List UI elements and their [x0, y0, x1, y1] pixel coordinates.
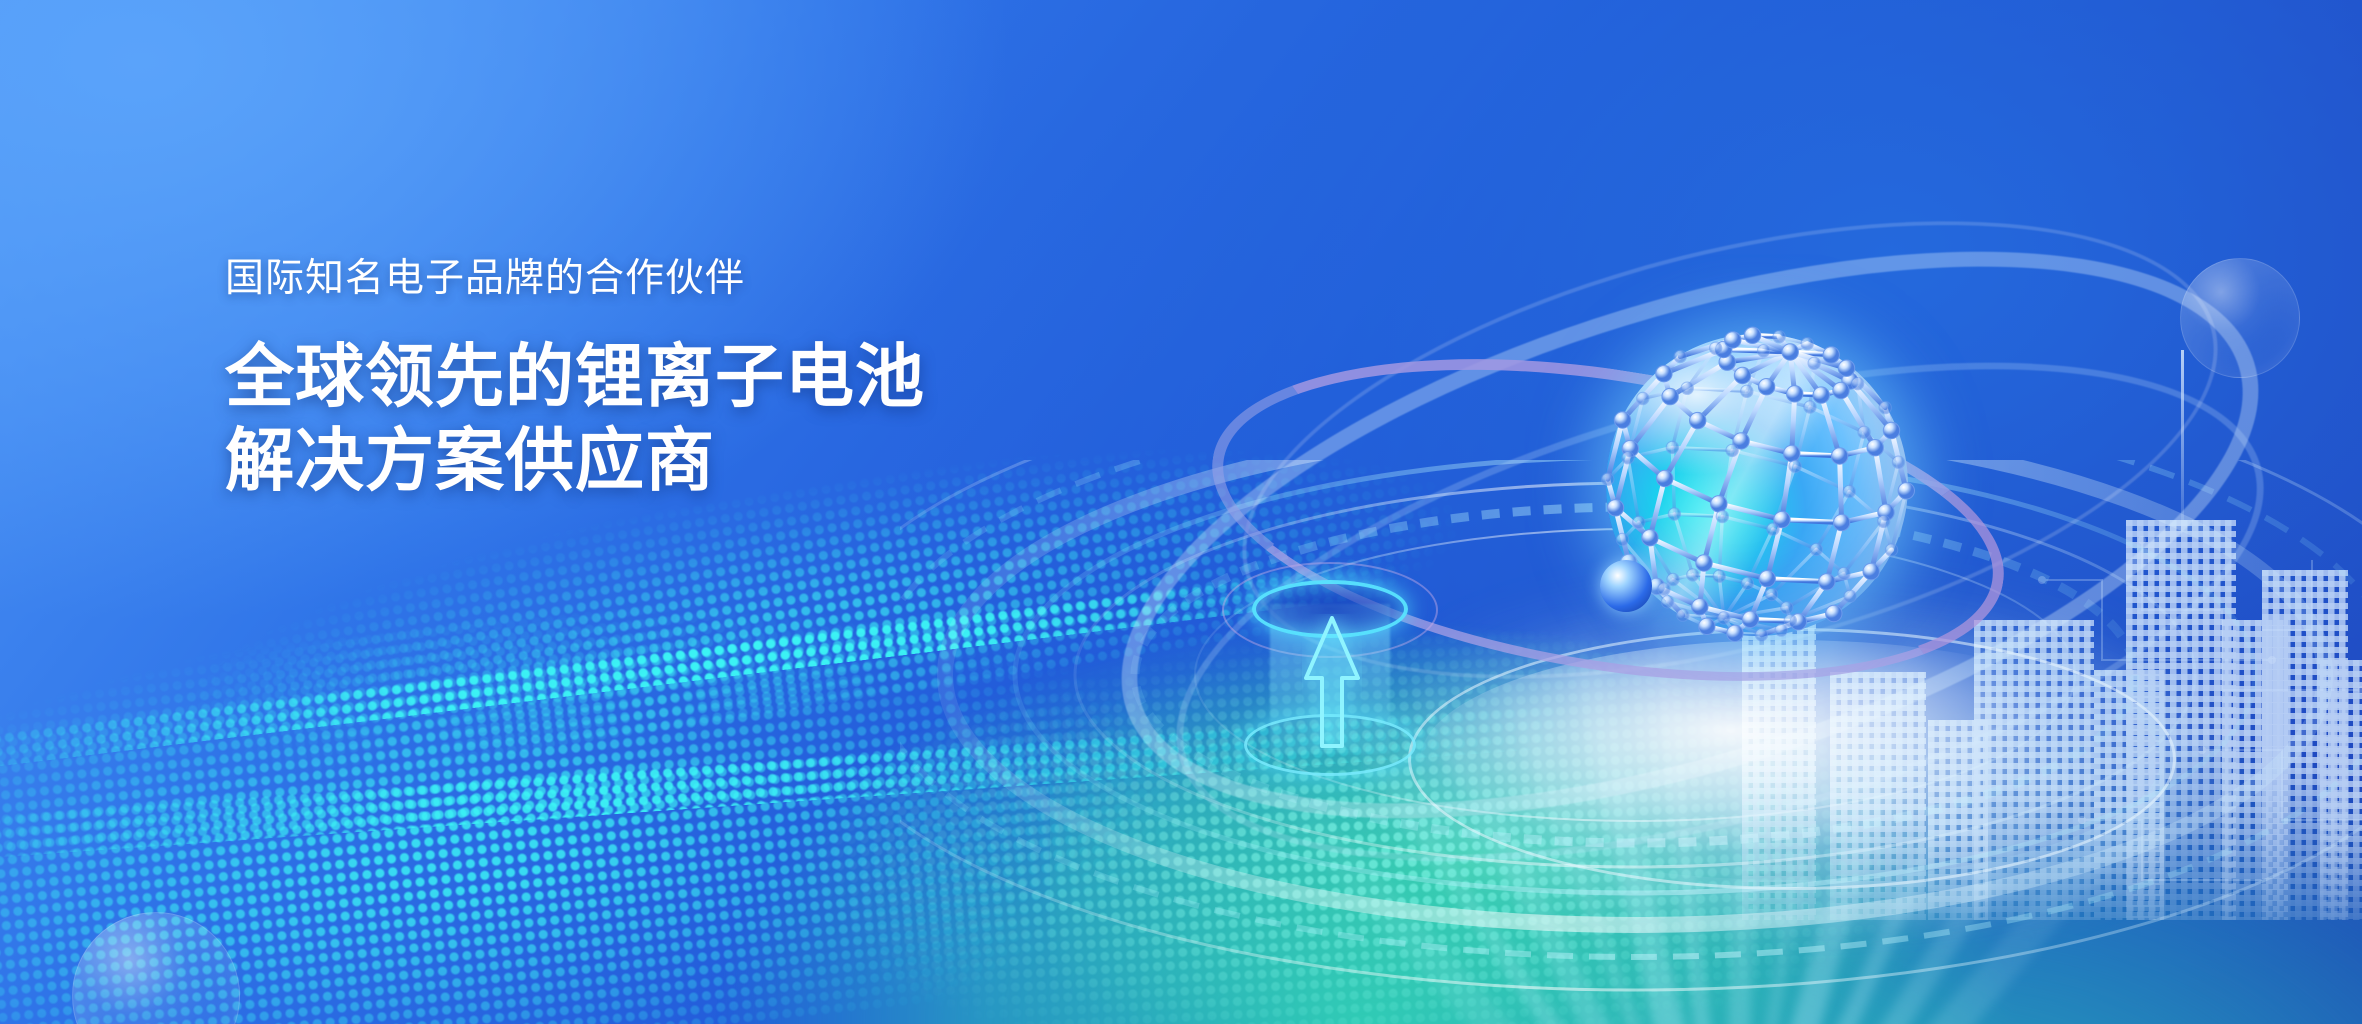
portal-halo [1222, 562, 1438, 658]
banner-copy: 国际知名电子品牌的合作伙伴 全球领先的锂离子电池 解决方案供应商 [225, 258, 1125, 503]
globe-accent-node [1600, 560, 1652, 612]
skyline-tower [2320, 660, 2362, 920]
skyline-tower [1974, 620, 2094, 920]
bubble-icon-top-right [2180, 258, 2300, 378]
dot-wave-layer-main [0, 523, 1458, 1024]
portal-base-ring [1244, 714, 1416, 776]
glass-disc-platform [1420, 640, 2160, 880]
dot-wave-ridge-1 [0, 560, 1407, 770]
banner-subtitle: 国际知名电子品牌的合作伙伴 [225, 258, 1125, 301]
skyline-tower [2222, 620, 2288, 920]
portal-beam [1270, 604, 1390, 754]
portal-top-ring [1252, 580, 1408, 638]
banner-headline: 全球领先的锂离子电池 解决方案供应商 [225, 335, 1125, 503]
skyline-tower [2262, 570, 2348, 920]
skyline-tower [2126, 520, 2236, 920]
bubble-icon-bottom-left [72, 912, 240, 1024]
skyline-antenna [2181, 350, 2184, 520]
dot-wave-ridge-2 [0, 704, 1560, 860]
hero-banner: 国际知名电子品牌的合作伙伴 全球领先的锂离子电池 解决方案供应商 [0, 0, 2362, 1024]
skyline-tower [2094, 670, 2164, 920]
up-arrow-icon [1302, 614, 1362, 750]
skyline-tower [1928, 720, 1988, 920]
teal-gradient-wash [680, 430, 2362, 1024]
up-arrow-portal-icon [1240, 580, 1420, 780]
dot-wave-layer-teal [550, 601, 2070, 1024]
platform-edge [1408, 628, 2176, 890]
dot-matrix-wave [0, 0, 2362, 1024]
skyline-tower [1830, 672, 1926, 920]
banner-headline-line-2: 解决方案供应商 [225, 419, 1125, 503]
banner-headline-line-1: 全球领先的锂离子电池 [225, 335, 1125, 419]
